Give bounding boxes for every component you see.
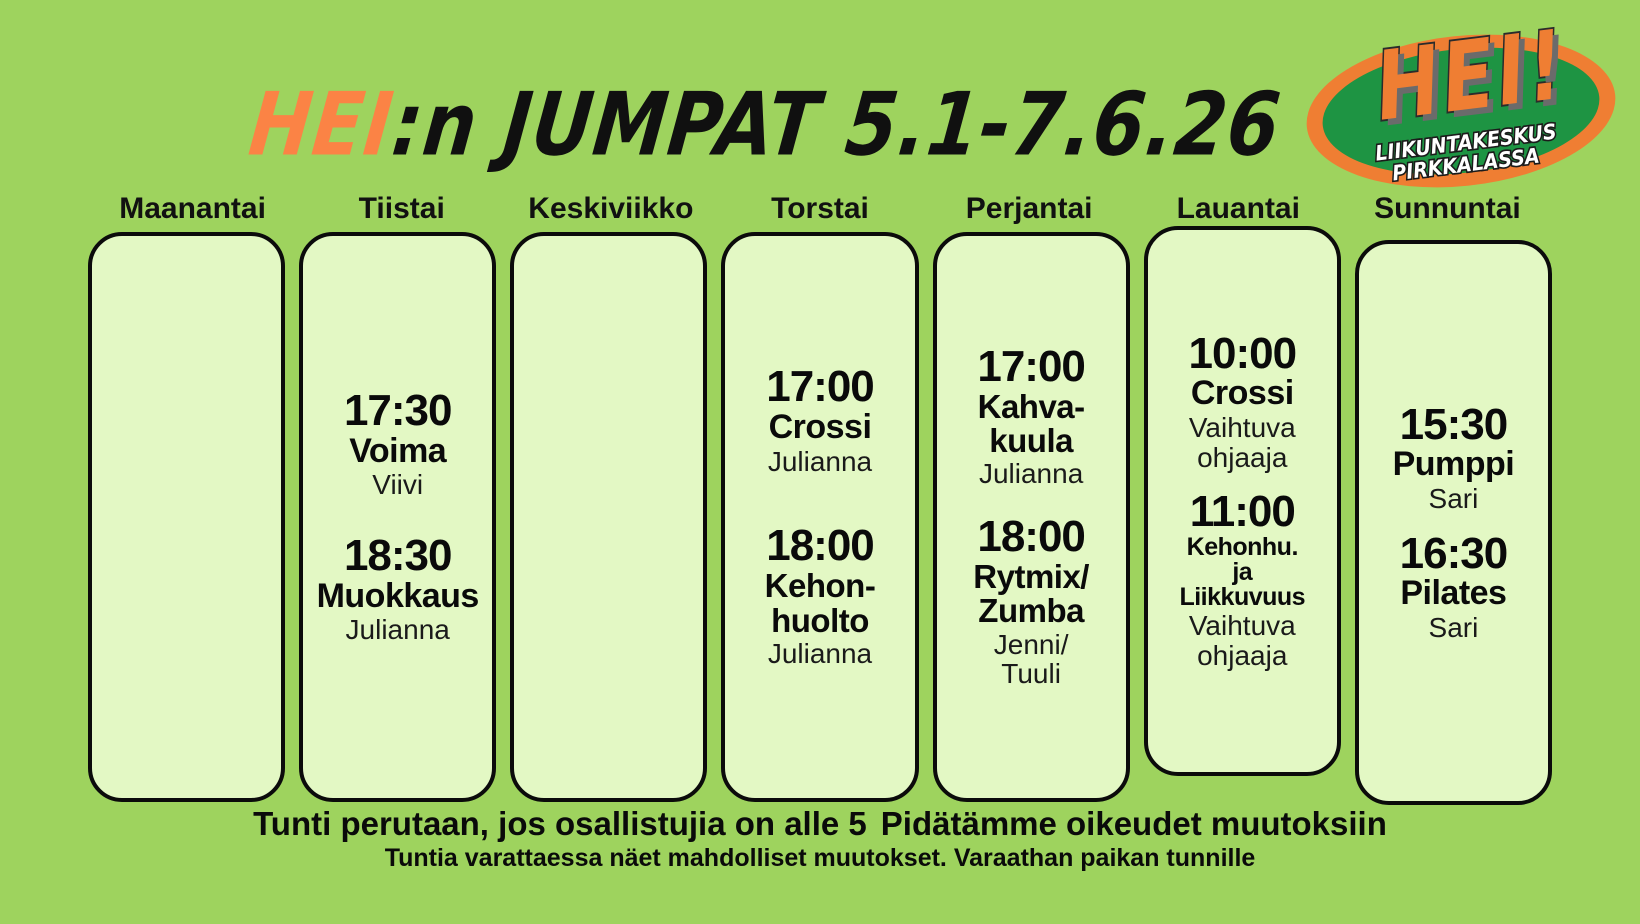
class-time: 17:00 [943,345,1120,390]
class-time: 16:30 [1365,532,1542,577]
day-card-lauantai[interactable]: 10:00CrossiVaihtuvaohjaaja11:00Kehonhu.j… [1144,226,1341,776]
footer: Tunti perutaan, jos osallistujia on alle… [0,806,1640,873]
class-slot[interactable]: 17:00Kahva-kuulaJulianna [943,345,1120,489]
class-slot[interactable]: 11:00Kehonhu.jaLiikkuvuusVaihtuvaohjaaja [1154,490,1331,670]
day-card-torstai[interactable]: 17:00CrossiJulianna18:00Kehon-huoltoJuli… [721,232,918,802]
class-time: 10:00 [1154,332,1331,377]
class-name: Pilates [1365,576,1542,611]
class-name: Voima [309,434,486,469]
class-instructor: Vaihtuvaohjaaja [1154,611,1331,670]
class-time: 17:00 [731,365,908,410]
class-slot[interactable]: 18:00Rytmix/ZumbaJenni/Tuuli [943,515,1120,689]
day-card-perjantai[interactable]: 17:00Kahva-kuulaJulianna18:00Rytmix/Zumb… [933,232,1130,802]
class-instructor: Julianna [731,447,908,477]
page-title-rest: :n JUMPAT 5.1-7.6.26 [388,74,1286,175]
day-header-lauantai: Lauantai [1134,192,1343,228]
class-instructor: Julianna [309,615,486,645]
day-card-keskiviikko[interactable] [510,232,707,802]
class-slot[interactable]: 17:00CrossiJulianna [731,365,908,476]
footer-cancel-note: Tunti perutaan, jos osallistujia on alle… [253,805,867,842]
schedule-grid: 17:30VoimaViivi18:30MuokkausJulianna 17:… [88,232,1552,802]
class-slot[interactable]: 16:30PilatesSari [1365,532,1542,643]
day-card-tiistai[interactable]: 17:30VoimaViivi18:30MuokkausJulianna [299,232,496,802]
class-slot[interactable]: 10:00CrossiVaihtuvaohjaaja [1154,332,1331,473]
footer-line-2: Tuntia varattaessa näet mahdolliset muut… [0,844,1640,873]
class-instructor: Julianna [731,639,908,669]
class-name: Pumppi [1365,447,1542,482]
page-title-highlight: HEI [245,74,399,175]
class-name: Kehonhu.jaLiikkuvuus [1154,535,1331,610]
day-header-tiistai: Tiistai [297,192,506,228]
hei-logo: HEI! LIIKUNTAKESKUS PIRKKALASSA [1296,22,1626,200]
class-instructor: Julianna [943,459,1120,489]
logo-wordmark: HEI! [1341,14,1601,139]
day-header-keskiviikko: Keskiviikko [506,192,715,228]
class-time: 18:00 [731,524,908,569]
day-header-perjantai: Perjantai [925,192,1134,228]
class-time: 18:00 [943,515,1120,560]
class-name: Kehon-huolto [731,569,908,638]
class-slot[interactable]: 17:30VoimaViivi [309,389,486,500]
class-name: Crossi [731,410,908,445]
day-card-sunnuntai[interactable]: 15:30PumppiSari16:30PilatesSari [1355,240,1552,805]
day-card-maanantai[interactable] [88,232,285,802]
class-instructor: Sari [1365,484,1542,514]
class-name: Crossi [1154,376,1331,411]
class-name: Kahva-kuula [943,390,1120,459]
class-instructor: Viivi [309,470,486,500]
day-header-row: Maanantai Tiistai Keskiviikko Torstai Pe… [88,192,1552,228]
class-instructor: Jenni/Tuuli [943,630,1120,689]
class-time: 17:30 [309,389,486,434]
class-slot[interactable]: 15:30PumppiSari [1365,403,1542,514]
class-name: Muokkaus [309,579,486,614]
footer-line-1: Tunti perutaan, jos osallistujia on alle… [0,806,1640,842]
day-header-maanantai: Maanantai [88,192,297,228]
day-header-torstai: Torstai [715,192,924,228]
footer-rights-note: Pidätämme oikeudet muutoksiin [881,805,1387,842]
class-slot[interactable]: 18:00Kehon-huoltoJulianna [731,524,908,668]
class-instructor: Vaihtuvaohjaaja [1154,413,1331,472]
page-title-text: HEI:n JUMPAT 5.1-7.6.26 [245,81,1284,168]
class-slot[interactable]: 18:30MuokkausJulianna [309,534,486,645]
class-instructor: Sari [1365,613,1542,643]
day-header-sunnuntai: Sunnuntai [1343,192,1552,228]
page-title: HEI:n JUMPAT 5.1-7.6.26 [250,82,1250,168]
class-time: 11:00 [1154,490,1331,535]
class-time: 15:30 [1365,403,1542,448]
class-name: Rytmix/Zumba [943,560,1120,629]
class-time: 18:30 [309,534,486,579]
